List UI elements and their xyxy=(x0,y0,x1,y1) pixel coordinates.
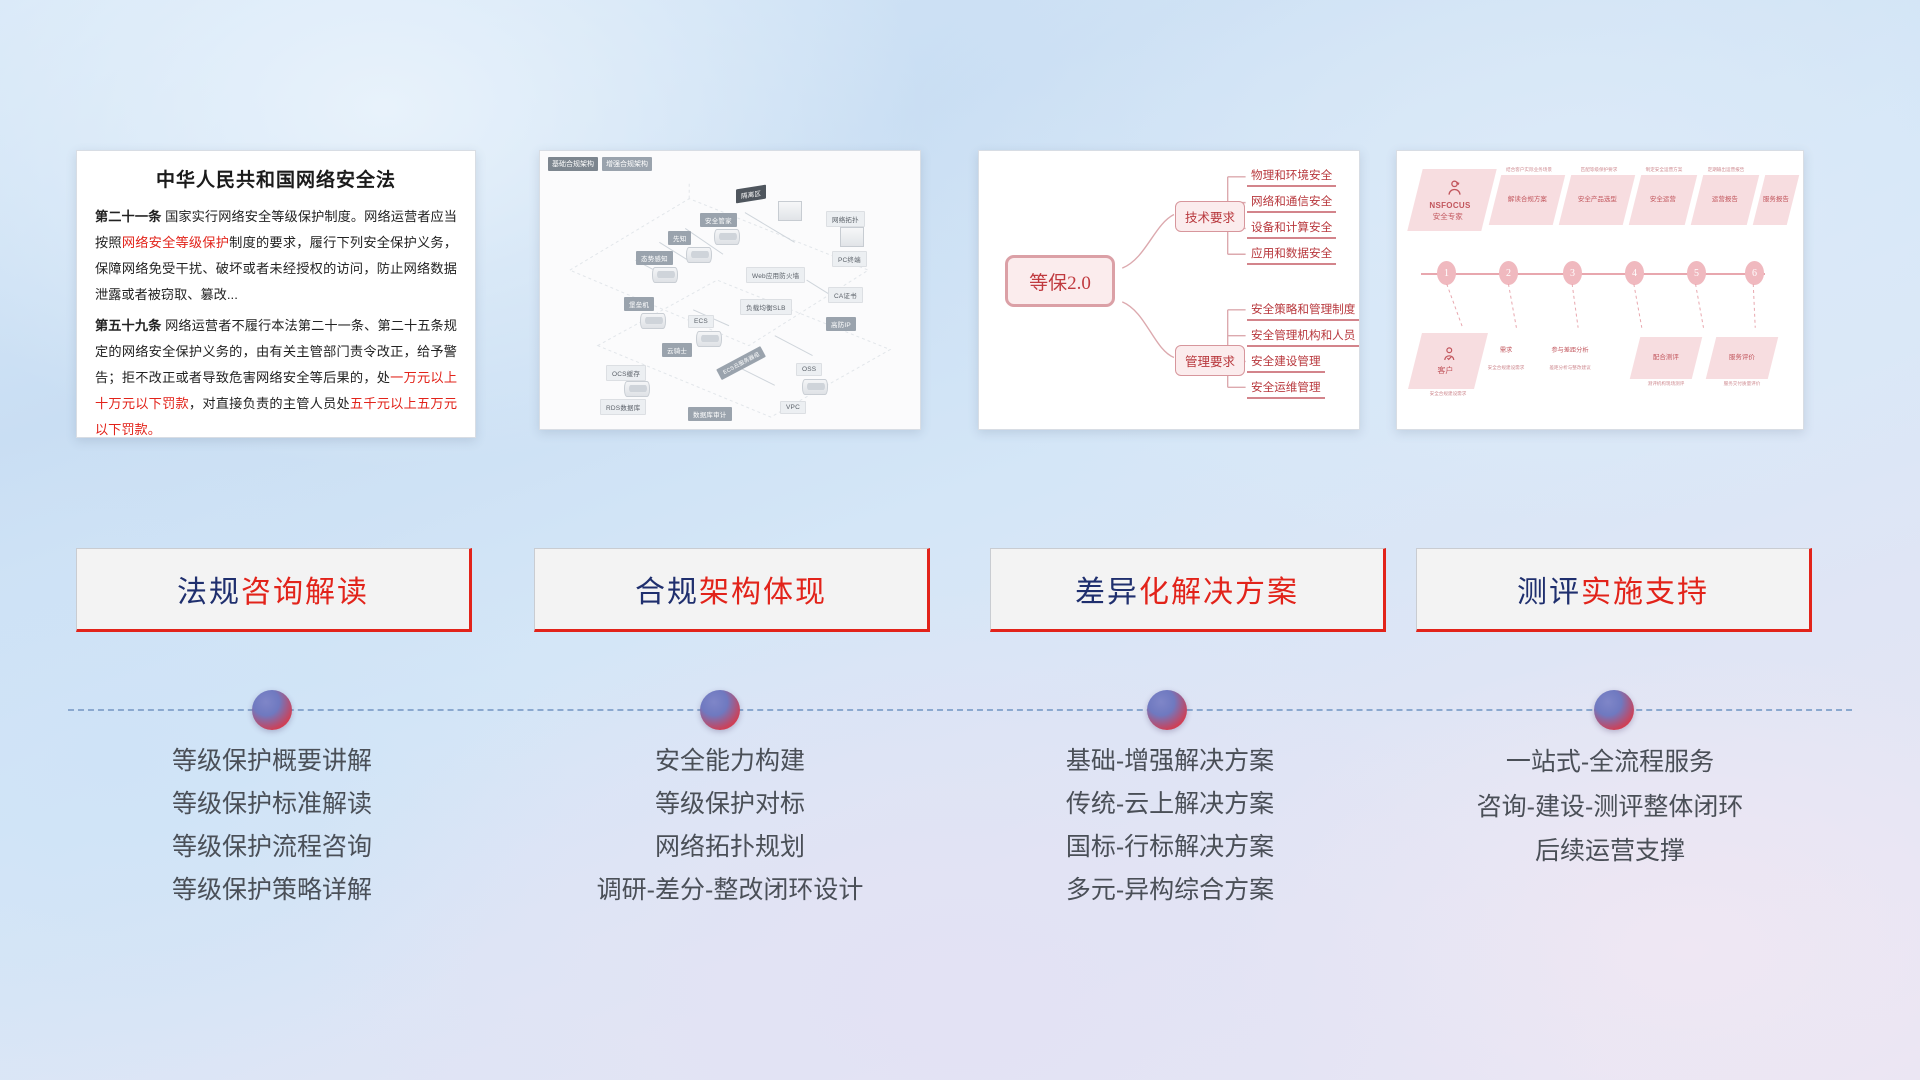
arch-node-oss: OSS xyxy=(796,363,822,376)
customer-sub: 安全合规建设需求 xyxy=(1415,391,1481,397)
process-bottom-sub-2: 差距分析与整改建议 xyxy=(1535,365,1605,371)
arch-node-ca-cert: CA证书 xyxy=(828,287,863,303)
card-mindmap[interactable]: 等保2.0 技术要求 物理和环境安全 网络和通信安全 设备和计算安全 应用和数据… xyxy=(978,150,1360,430)
process-bottom-sub-1: 安全合规建设需求 xyxy=(1475,365,1537,371)
list-item: 传统-云上解决方案 xyxy=(960,783,1380,826)
timeline-dot-2[interactable] xyxy=(700,690,740,730)
architecture-guides xyxy=(540,151,920,429)
title-text-3: 差异化解决方案 xyxy=(1075,567,1299,611)
mindmap-leaf-construction-mgmt: 安全建设管理 xyxy=(1247,353,1325,373)
arch-node-bastion-host: 堡垒机 xyxy=(624,297,654,311)
process-bottom-sub-4: 服务交付质量评价 xyxy=(1705,381,1779,387)
law-article-21: 第二十一条 国家实行网络安全等级保护制度。网络运营者应当按照网络安全等级保护制度… xyxy=(95,204,457,309)
list-item: 等级保护对标 xyxy=(520,783,940,826)
list-item: 咨询-建设-测评整体闭环 xyxy=(1400,785,1820,830)
card-cybersecurity-law[interactable]: 中华人民共和国网络安全法 第二十一条 国家实行网络安全等级保护制度。网络运营者应… xyxy=(76,150,476,438)
process-bottom-band-4: 服务评价 xyxy=(1706,337,1778,379)
article-21-label: 第二十一条 xyxy=(95,209,161,224)
title-1-part2: 咨询解读 xyxy=(241,576,369,609)
architecture-diagram: 基础合规架构 增强合规架构 xyxy=(540,151,920,429)
article-59-text-b: ，对直接负责的主管人员处 xyxy=(189,396,350,411)
title-4-part1: 测评 xyxy=(1517,576,1581,609)
process-bottom-label-4: 服务评价 xyxy=(1729,354,1755,363)
title-4-part2: 实施支持 xyxy=(1581,576,1709,609)
title-3-part1: 差异 xyxy=(1075,576,1139,609)
mindmap-diagram: 等保2.0 技术要求 物理和环境安全 网络和通信安全 设备和计算安全 应用和数据… xyxy=(979,151,1359,429)
arch-icon-cylinder-3 xyxy=(652,267,678,283)
title-box-assessment-support[interactable]: 测评实施支持 xyxy=(1416,548,1812,632)
mindmap-leaf-physical-env: 物理和环境安全 xyxy=(1247,167,1336,187)
arch-node-xianzhi: 先知 xyxy=(668,231,691,245)
timeline-dot-3[interactable] xyxy=(1147,690,1187,730)
article-59-label: 第五十九条 xyxy=(95,318,161,333)
arch-node-pc-terminal: PC终端 xyxy=(832,251,867,267)
arch-node-rds: RDS数据库 xyxy=(600,399,646,415)
customer-label: 客户 xyxy=(1437,366,1453,377)
arch-node-ocs-cache: OCS缓存 xyxy=(606,365,646,381)
arch-node-situation-awareness: 态势感知 xyxy=(636,251,673,265)
arch-node-waf: Web应用防火墙 xyxy=(746,267,805,283)
mindmap-branch-technical: 技术要求 xyxy=(1175,201,1245,232)
list-item: 一站式-全流程服务 xyxy=(1400,740,1820,785)
title-3-part2: 化解决方案 xyxy=(1139,576,1299,609)
mindmap-leaf-policy-system: 安全策略和管理制度 xyxy=(1247,301,1359,321)
slide-canvas: 中华人民共和国网络安全法 第二十一条 国家实行网络安全等级保护制度。网络运营者应… xyxy=(0,0,1920,1080)
law-document: 中华人民共和国网络安全法 第二十一条 国家实行网络安全等级保护制度。网络运营者应… xyxy=(77,151,475,438)
article-21-highlight: 网络安全等级保护 xyxy=(122,235,229,250)
process-bottom-label-1: 需求 xyxy=(1483,347,1529,355)
title-box-regulation-consulting[interactable]: 法规咨询解读 xyxy=(76,548,472,632)
title-row: 法规咨询解读 合规架构体现 差异化解决方案 测评实施支持 xyxy=(0,548,1920,636)
detail-column-3: 基础-增强解决方案 传统-云上解决方案 国标-行标解决方案 多元-异构综合方案 xyxy=(960,740,1380,912)
detail-column-1: 等级保护概要讲解 等级保护标准解读 等级保护流程咨询 等级保护策略详解 xyxy=(62,740,482,912)
arch-node-anti-ddos: 高防IP xyxy=(826,317,856,331)
card-cloud-architecture[interactable]: 基础合规架构 增强合规架构 xyxy=(539,150,921,430)
arch-node-db-audit: 数据库审计 xyxy=(688,407,732,421)
list-item: 等级保护标准解读 xyxy=(62,783,482,826)
timeline-connector xyxy=(0,690,1920,730)
arch-node-slb: 负载均衡SLB xyxy=(740,299,792,315)
arch-node-vpc: VPC xyxy=(780,401,806,414)
arch-icon-box-2 xyxy=(840,227,864,247)
law-title: 中华人民共和国网络安全法 xyxy=(95,165,457,192)
detail-column-4: 一站式-全流程服务 咨询-建设-测评整体闭环 后续运营支撑 xyxy=(1400,740,1820,874)
mindmap-leaf-device-compute: 设备和计算安全 xyxy=(1247,219,1336,239)
title-2-part1: 合规 xyxy=(635,576,699,609)
detail-lists: 等级保护概要讲解 等级保护标准解读 等级保护流程咨询 等级保护策略详解 安全能力… xyxy=(0,740,1920,980)
arch-node-topology: 网络拓扑 xyxy=(826,211,865,227)
arch-node-ecs: ECS xyxy=(688,315,714,328)
process-diagram: NSFOCUS 安全专家 解读合规方案 结合客户实际业务场景 安全产品选型 匹配… xyxy=(1397,151,1803,429)
detail-column-2: 安全能力构建 等级保护对标 网络拓扑规划 调研-差分-整改闭环设计 xyxy=(520,740,940,912)
timeline-dashed-line xyxy=(68,709,1852,711)
arch-icon-cylinder-4 xyxy=(640,313,666,329)
title-2-part2: 架构体现 xyxy=(699,576,827,609)
process-bottom-label-3: 配合测评 xyxy=(1653,354,1679,363)
mindmap-leaf-org-personnel: 安全管理机构和人员 xyxy=(1247,327,1359,347)
title-text-1: 法规咨询解读 xyxy=(177,567,369,611)
timeline-dot-4[interactable] xyxy=(1594,690,1634,730)
title-text-4: 测评实施支持 xyxy=(1517,567,1709,611)
list-item: 网络拓扑规划 xyxy=(520,826,940,869)
mindmap-leaf-app-data: 应用和数据安全 xyxy=(1247,245,1336,265)
mindmap-leaf-ops-mgmt: 安全运维管理 xyxy=(1247,379,1325,399)
list-item: 后续运营支撑 xyxy=(1400,829,1820,874)
title-text-2: 合规架构体现 xyxy=(635,567,827,611)
process-bottom-sub-3: 测评机构现场测评 xyxy=(1629,381,1703,387)
arch-icon-box-1 xyxy=(778,201,802,221)
customer-person-icon xyxy=(1440,345,1458,367)
list-item: 基础-增强解决方案 xyxy=(960,740,1380,783)
list-item: 调研-差分-整改闭环设计 xyxy=(520,869,940,912)
mindmap-branch-management: 管理要求 xyxy=(1175,345,1245,376)
law-article-59: 第五十九条 网络运营者不履行本法第二十一条、第二十五条规定的网络安全保护义务的，… xyxy=(95,313,457,438)
mindmap-root: 等保2.0 xyxy=(1005,255,1115,307)
mindmap-leaf-network-comm: 网络和通信安全 xyxy=(1247,193,1336,213)
arch-node-cloud-knight: 云骑士 xyxy=(662,343,692,357)
list-item: 国标-行标解决方案 xyxy=(960,826,1380,869)
card-process-timeline[interactable]: NSFOCUS 安全专家 解读合规方案 结合客户实际业务场景 安全产品选型 匹配… xyxy=(1396,150,1804,430)
card-row: 中华人民共和国网络安全法 第二十一条 国家实行网络安全等级保护制度。网络运营者应… xyxy=(0,150,1920,450)
arch-icon-cylinder-2 xyxy=(686,247,712,263)
title-box-differentiated-solution[interactable]: 差异化解决方案 xyxy=(990,548,1386,632)
process-customer-block: 客户 xyxy=(1408,333,1488,389)
process-bottom-band-3: 配合测评 xyxy=(1630,337,1702,379)
process-bottom-label-2: 参与差距分析 xyxy=(1539,347,1601,355)
list-item: 安全能力构建 xyxy=(520,740,940,783)
arch-icon-cylinder-6 xyxy=(624,381,650,397)
list-item: 多元-异构综合方案 xyxy=(960,869,1380,912)
title-box-compliance-architecture[interactable]: 合规架构体现 xyxy=(534,548,930,632)
arch-icon-cylinder-7 xyxy=(802,379,828,395)
list-item: 等级保护概要讲解 xyxy=(62,740,482,783)
list-item: 等级保护策略详解 xyxy=(62,869,482,912)
timeline-dot-1[interactable] xyxy=(252,690,292,730)
arch-node-security-butler: 安全管家 xyxy=(700,213,737,227)
title-1-part1: 法规 xyxy=(177,576,241,609)
arch-icon-cylinder-1 xyxy=(714,229,740,245)
arch-icon-cylinder-5 xyxy=(696,331,722,347)
list-item: 等级保护流程咨询 xyxy=(62,826,482,869)
